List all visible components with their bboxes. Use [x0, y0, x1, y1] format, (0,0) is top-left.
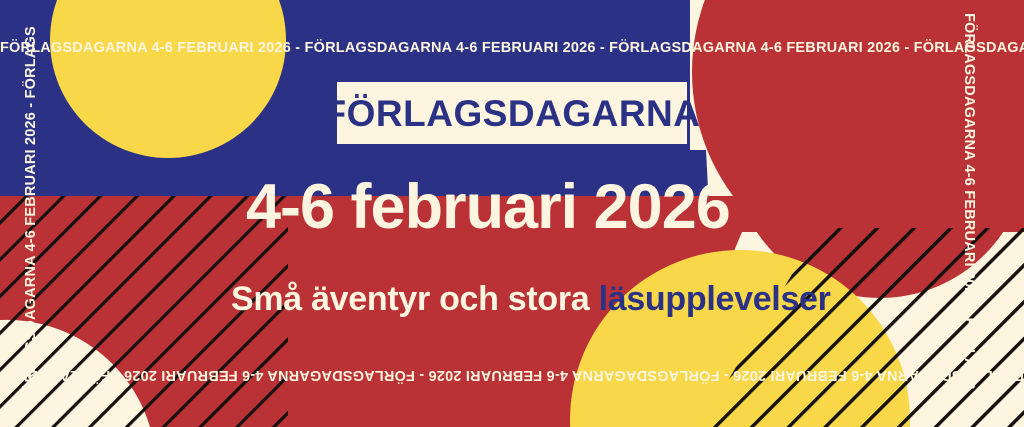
event-dates: 4-6 februari 2026 [246, 176, 730, 239]
event-name: FÖRLAGSDAGARNA [324, 95, 701, 132]
tagline-highlight: läsupplevelser [599, 280, 831, 318]
event-logo-badge: FÖRLAGSDAGARNA [337, 82, 687, 144]
event-banner: FÖRLAGSDAGARNA 4-6 FEBRUARI 2026 - FÖRLA… [0, 0, 1024, 427]
banner-content: FÖRLAGSDAGARNA 4-6 februari 2026 Små äve… [0, 0, 1024, 427]
tagline-plain: Små äventyr och stora [231, 280, 599, 318]
event-tagline: Små äventyr och stora läsupplevelser [231, 282, 831, 316]
